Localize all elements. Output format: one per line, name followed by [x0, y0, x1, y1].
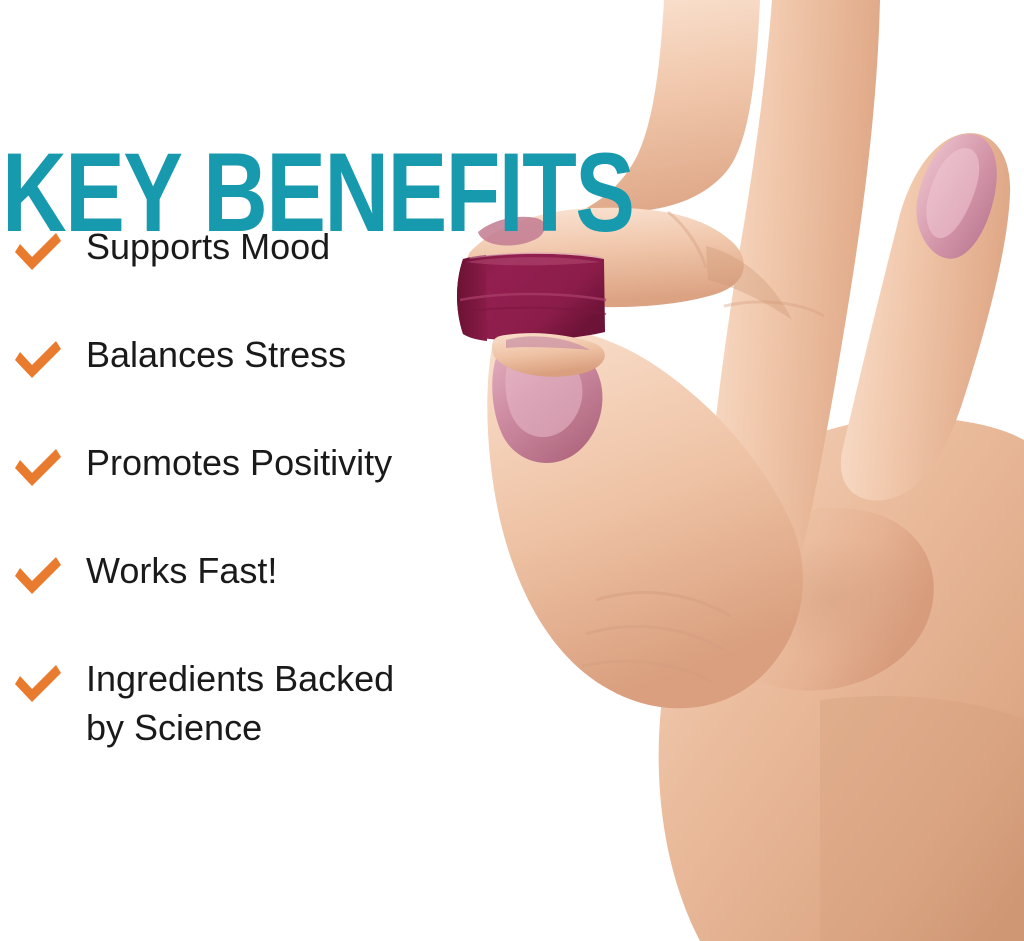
- benefits-panel: KEY BENEFITS Supports Mood Balances Stre…: [0, 0, 520, 941]
- benefit-label: Works Fast!: [86, 546, 500, 595]
- benefit-item-ingredients-backed-by-science: Ingredients Backed by Science: [0, 654, 500, 752]
- hand-wrist-shadow: [820, 696, 1024, 941]
- orange-checkmark-icon: [12, 662, 64, 706]
- benefit-item-supports-mood: Supports Mood: [0, 222, 500, 284]
- benefit-item-balances-stress: Balances Stress: [0, 330, 500, 392]
- benefit-label: Promotes Positivity: [86, 438, 500, 487]
- key-benefits-graphic: KEY BENEFITS Supports Mood Balances Stre…: [0, 0, 1024, 941]
- benefits-list: Supports Mood Balances Stress Promotes P…: [0, 222, 500, 752]
- orange-checkmark-icon: [12, 338, 64, 382]
- benefit-item-promotes-positivity: Promotes Positivity: [0, 438, 500, 500]
- orange-checkmark-icon: [12, 230, 64, 274]
- benefit-label: Balances Stress: [86, 330, 500, 379]
- benefit-label: Ingredients Backed by Science: [86, 654, 500, 752]
- benefit-label: Supports Mood: [86, 222, 500, 271]
- benefit-item-works-fast: Works Fast!: [0, 546, 500, 608]
- orange-checkmark-icon: [12, 446, 64, 490]
- orange-checkmark-icon: [12, 554, 64, 598]
